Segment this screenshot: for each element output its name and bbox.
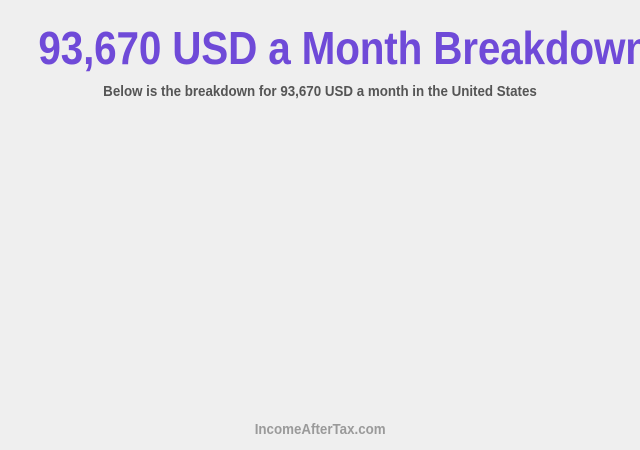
page-root: 93,670 USD a Month Breakdown Below is th… bbox=[0, 0, 640, 450]
footer-brand-label: IncomeAfterTax.com bbox=[255, 421, 386, 439]
page-title: 93,670 USD a Month Breakdown bbox=[38, 22, 601, 74]
page-subtitle: Below is the breakdown for 93,670 USD a … bbox=[26, 84, 615, 101]
page-footer: IncomeAfterTax.com bbox=[0, 421, 640, 439]
chart-plot-area bbox=[0, 115, 640, 410]
chart-region: Chart plot area is blank in the screensh… bbox=[0, 115, 640, 410]
